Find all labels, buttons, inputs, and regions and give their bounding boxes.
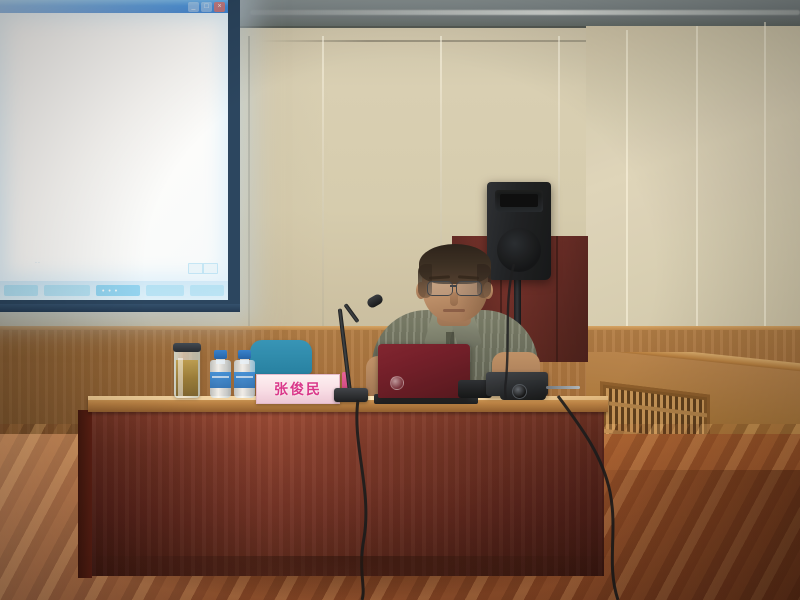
taskbar-item[interactable]	[146, 285, 184, 296]
maximize-icon[interactable]: □	[201, 2, 212, 12]
document-faint-text: ..	[35, 258, 41, 265]
taskbar-item[interactable]	[44, 285, 90, 296]
water-bottle	[210, 350, 231, 398]
nose	[450, 292, 458, 306]
speaker-cable	[480, 260, 540, 400]
taskbar-tray[interactable]	[190, 285, 224, 296]
status-button[interactable]	[204, 264, 217, 273]
screen-bottom-edge	[0, 304, 240, 312]
maroon-laptop	[378, 344, 470, 398]
right-wall-panels	[586, 26, 800, 360]
taskbar-start-button[interactable]	[4, 285, 38, 296]
taskbar-label: • • •	[102, 288, 118, 295]
right-wall-seam	[696, 26, 698, 354]
bottle-cap	[214, 350, 227, 359]
glasses-lens-right	[456, 281, 482, 296]
projection-screen: _ □ × .. • • •	[0, 0, 240, 310]
speaker-horn-mouth	[500, 194, 538, 207]
bottle-label	[210, 372, 231, 388]
bottle-cap	[238, 350, 251, 359]
teal-chair-back	[250, 340, 312, 374]
name-plate: 张俊民	[256, 374, 340, 404]
window-document-area[interactable]: ..	[0, 13, 228, 281]
status-buttons[interactable]	[188, 263, 218, 274]
mouth	[443, 309, 465, 312]
window-titlebar: _ □ ×	[0, 0, 228, 13]
status-button[interactable]	[189, 264, 202, 273]
close-icon[interactable]: ×	[214, 2, 225, 12]
right-wall-seam	[626, 30, 628, 350]
water-bottle	[234, 350, 255, 398]
bottle-label	[234, 372, 255, 388]
taskbar-item-active[interactable]: • • •	[96, 285, 140, 296]
tea-jar-lid	[173, 343, 201, 352]
podium-desk	[88, 396, 608, 576]
desk-floor-shadow	[70, 556, 630, 600]
glass-tea-jar	[174, 346, 200, 398]
conference-room-photo: _ □ × .. • • •	[0, 0, 800, 600]
laptop-logo-icon	[390, 376, 404, 390]
backdrop-seam	[556, 236, 558, 362]
screen-surface: _ □ × .. • • •	[0, 0, 228, 300]
taskbar[interactable]: • • •	[0, 281, 228, 300]
jar-highlight	[178, 358, 183, 396]
camera-cable	[546, 386, 580, 389]
window-controls[interactable]: _ □ ×	[188, 2, 225, 12]
glasses-bridge	[450, 285, 457, 287]
glasses-lens-left	[427, 281, 453, 296]
name-plate-text: 张俊民	[274, 379, 322, 399]
desk-side	[78, 410, 92, 578]
minimize-icon[interactable]: _	[188, 2, 199, 12]
right-wall-seam	[764, 22, 766, 358]
desk-shading	[92, 411, 604, 576]
